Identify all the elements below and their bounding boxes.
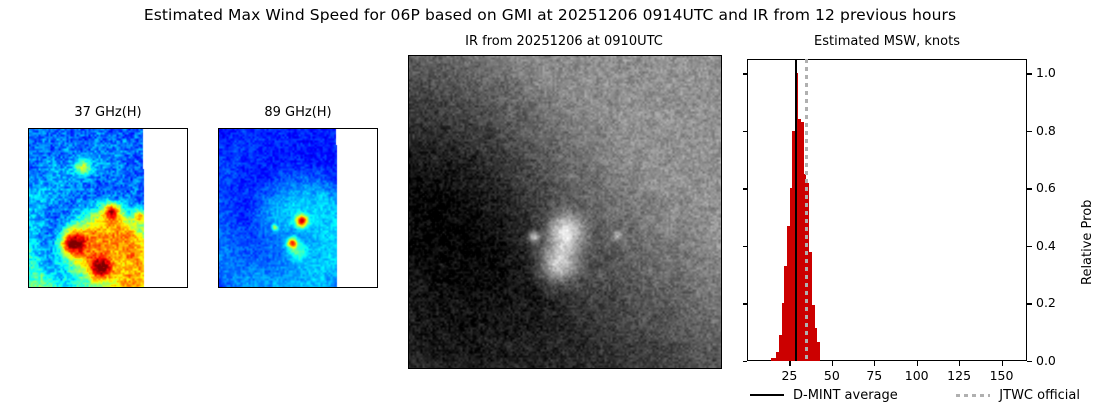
legend-item-jtwc-official: JTWC official [956, 388, 1080, 403]
histogram-legend: D-MINT average JTWC official [750, 386, 1080, 404]
y-axis-tick [1027, 73, 1032, 74]
solid-line-icon [750, 394, 784, 396]
y-axis-tick-left [743, 131, 748, 132]
x-axis-tick-label: 150 [977, 368, 1027, 383]
y-axis-tick-label: 0.8 [1036, 123, 1056, 138]
legend-label-dmint-average: D-MINT average [793, 388, 898, 403]
y-axis-tick-left [743, 188, 748, 189]
y-axis-tick [1027, 188, 1032, 189]
y-axis-tick-label: 0.2 [1036, 295, 1056, 310]
y-axis-tick [1027, 361, 1032, 362]
x-axis-tick [917, 361, 918, 366]
x-axis-tick [874, 361, 875, 366]
y-axis-tick-left [743, 246, 748, 247]
legend-item-dmint-average: D-MINT average [750, 388, 898, 403]
x-axis-tick [959, 361, 960, 366]
y-axis-tick [1027, 303, 1032, 304]
x-axis-tick [1002, 361, 1003, 366]
legend-label-jtwc-official: JTWC official [999, 388, 1080, 403]
y-axis-tick-label: 0.4 [1036, 238, 1056, 253]
msw-histogram-panel: Estimated MSW, knots 2550751001251500.00… [0, 0, 1100, 409]
y-axis-tick-label: 1.0 [1036, 65, 1056, 80]
y-axis-tick [1027, 246, 1032, 247]
histogram-y-axis-label: Relative Prob [1080, 200, 1095, 285]
y-axis-tick-label: 0.6 [1036, 180, 1056, 195]
y-axis-tick-left [743, 73, 748, 74]
x-axis-tick [832, 361, 833, 366]
y-axis-tick [1027, 131, 1032, 132]
x-axis-tick [789, 361, 790, 366]
dotted-line-icon [956, 394, 990, 397]
histogram-tick-layer: 2550751001251500.00.20.40.60.81.0 [0, 0, 1100, 409]
y-axis-tick-left [743, 361, 748, 362]
y-axis-tick-label: 0.0 [1036, 353, 1056, 368]
y-axis-tick-left [743, 303, 748, 304]
